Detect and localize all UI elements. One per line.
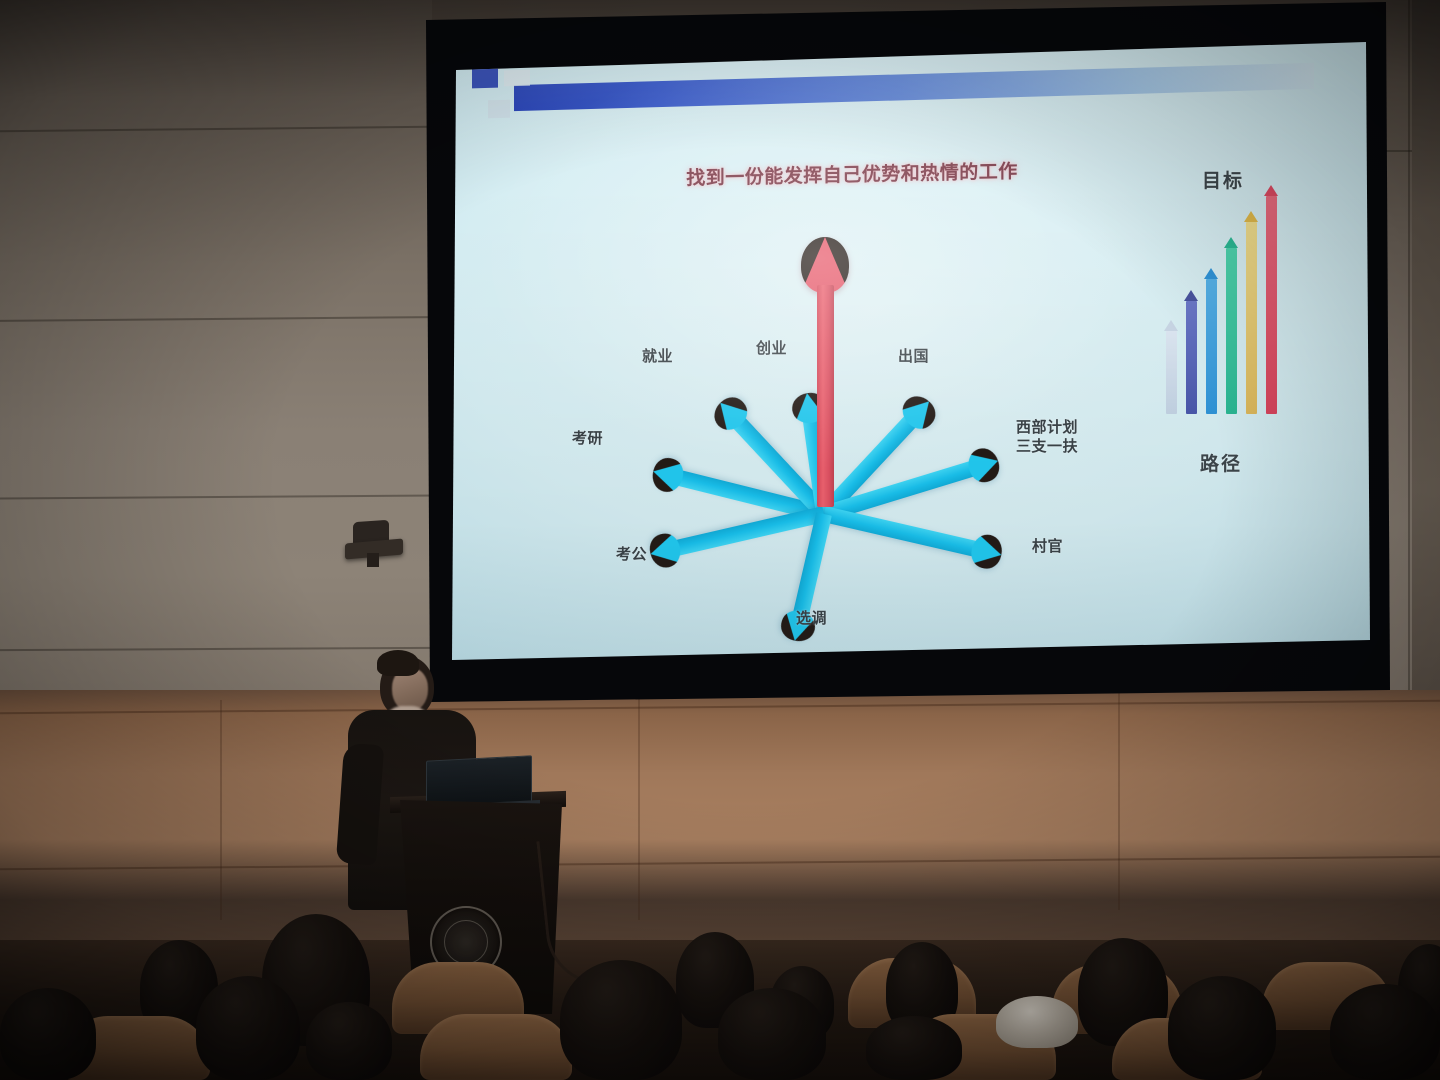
audience-head [996, 996, 1078, 1048]
audience-head [306, 1002, 392, 1080]
option-label-xibujihua-line1: 西部计划 [1016, 419, 1078, 436]
slide-accent-square [488, 100, 510, 119]
wall-vertical-seam [1408, 0, 1410, 700]
audience-head [1330, 984, 1440, 1080]
lecture-hall-scene: 找到一份能发挥自己优势和热情的工作 [0, 0, 1440, 1080]
goal-path-bar-chart: 目标 [1152, 152, 1342, 492]
chart-bars [1164, 196, 1304, 414]
presenter-hair [377, 650, 419, 676]
audience-head [866, 1016, 962, 1080]
presenter-arm [336, 743, 384, 865]
option-label-xibujihua-line2: 三支一扶 [1016, 438, 1078, 455]
audience-head [196, 976, 300, 1080]
audience-head [1168, 976, 1276, 1080]
option-label-kaoyan: 考研 [572, 427, 603, 448]
projected-slide: 找到一份能发挥自己优势和热情的工作 [452, 42, 1370, 660]
audience-head [718, 988, 826, 1080]
slide-accent-square [504, 70, 530, 87]
audience [0, 880, 1440, 1080]
option-label-jiuye: 就业 [642, 345, 673, 366]
career-options-starburst: 就业 创业 出国 考研 考公 村官 选调 西部计划 三支一扶 [564, 177, 1084, 597]
option-label-chuangye: 创业 [756, 337, 787, 358]
audience-head [0, 988, 96, 1080]
chair [420, 1014, 572, 1080]
slide-accent-square [472, 68, 498, 89]
audience-head [560, 960, 682, 1080]
wall-speaker-icon [345, 521, 403, 569]
option-label-kaogong: 考公 [616, 543, 647, 564]
option-label-chuguo: 出国 [898, 345, 929, 366]
left-wall-panel [0, 0, 432, 700]
panel-line [1118, 690, 1120, 910]
right-wall-edge [1412, 0, 1440, 700]
option-label-xuandiao: 选调 [796, 607, 827, 628]
chart-title-goal: 目标 [1202, 166, 1244, 193]
slide-header-bar [514, 63, 1314, 111]
option-label-cunguan: 村官 [1032, 535, 1063, 556]
chart-axis-label-path: 路径 [1200, 449, 1242, 476]
goal-arrow [810, 237, 840, 505]
option-label-xibujihua: 西部计划 三支一扶 [1016, 419, 1078, 457]
